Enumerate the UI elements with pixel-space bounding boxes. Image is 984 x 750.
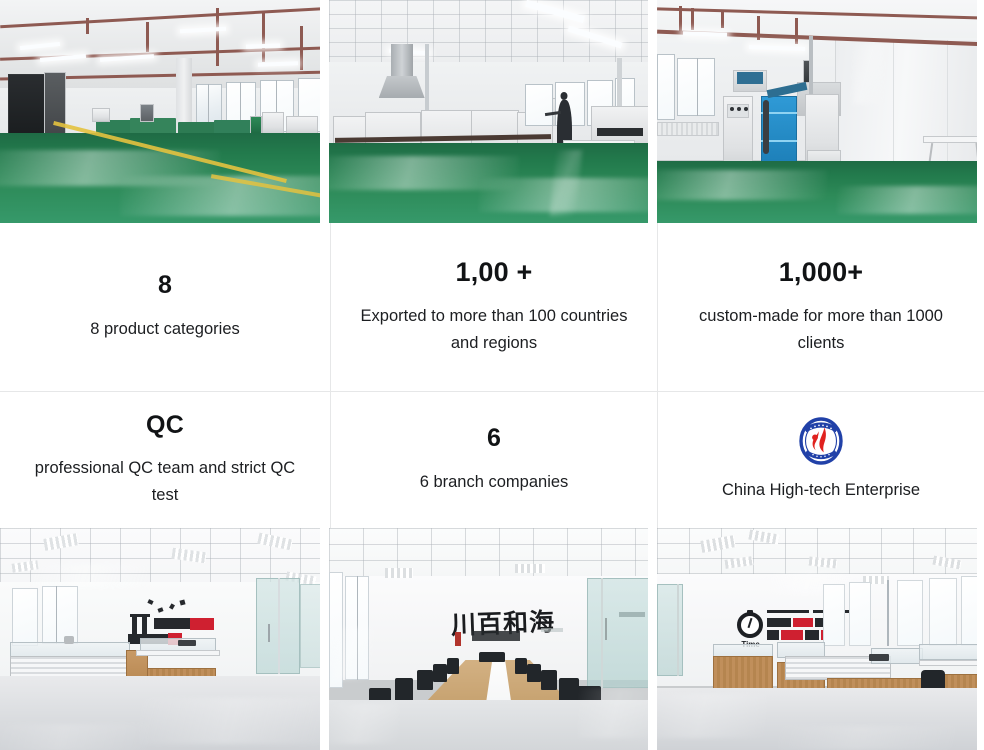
photo-conference-room[interactable]: 川百和海 bbox=[329, 528, 649, 750]
stat-label: China High-tech Enterprise bbox=[722, 477, 920, 503]
stat-product-categories[interactable]: 8 8 product categories bbox=[0, 223, 330, 391]
company-overview-panel: 8 8 product categories 1,00 + Exported t… bbox=[0, 0, 984, 750]
stat-value: QC bbox=[146, 412, 184, 440]
stat-custom-clients[interactable]: 1,000+ custom-made for more than 1000 cl… bbox=[657, 223, 984, 391]
stat-label: Exported to more than 100 countries and … bbox=[357, 303, 631, 356]
stat-value: 1,000+ bbox=[779, 258, 864, 288]
photo-open-office-right[interactable]: Time bbox=[657, 528, 977, 750]
stat-value: 1,00 + bbox=[455, 258, 532, 288]
stats-grid: 8 8 product categories 1,00 + Exported t… bbox=[0, 223, 984, 528]
office-cubicles-scene bbox=[0, 528, 320, 750]
stat-value: 6 bbox=[487, 425, 501, 453]
production-line-scene bbox=[329, 0, 649, 223]
photo-open-office-left[interactable] bbox=[0, 528, 320, 750]
stat-branch-companies[interactable]: 6 6 branch companies bbox=[330, 391, 657, 528]
test-equipment-scene bbox=[657, 0, 977, 223]
stat-label: 6 branch companies bbox=[420, 469, 569, 495]
office-timer-scene: Time bbox=[657, 528, 977, 750]
stat-export-countries[interactable]: 1,00 + Exported to more than 100 countri… bbox=[330, 223, 657, 391]
china-high-tech-enterprise-seal-icon bbox=[793, 416, 849, 466]
stat-label: 8 product categories bbox=[90, 316, 240, 342]
photo-testing-equipment[interactable] bbox=[657, 0, 977, 223]
photo-factory-production-hall[interactable] bbox=[0, 0, 320, 223]
stat-label: professional QC team and strict QC test bbox=[26, 455, 304, 508]
conference-room-scene: 川百和海 bbox=[329, 528, 649, 750]
bottom-photo-strip: 川百和海 bbox=[0, 528, 984, 750]
stat-value: 8 bbox=[158, 272, 172, 300]
factory-hall-scene bbox=[0, 0, 320, 223]
photo-production-line-operator[interactable] bbox=[329, 0, 649, 223]
stat-high-tech-enterprise[interactable]: China High-tech Enterprise bbox=[657, 391, 984, 528]
stat-label: custom-made for more than 1000 clients bbox=[684, 303, 958, 356]
top-photo-strip bbox=[0, 0, 984, 223]
stat-qc-team[interactable]: QC professional QC team and strict QC te… bbox=[0, 391, 330, 528]
